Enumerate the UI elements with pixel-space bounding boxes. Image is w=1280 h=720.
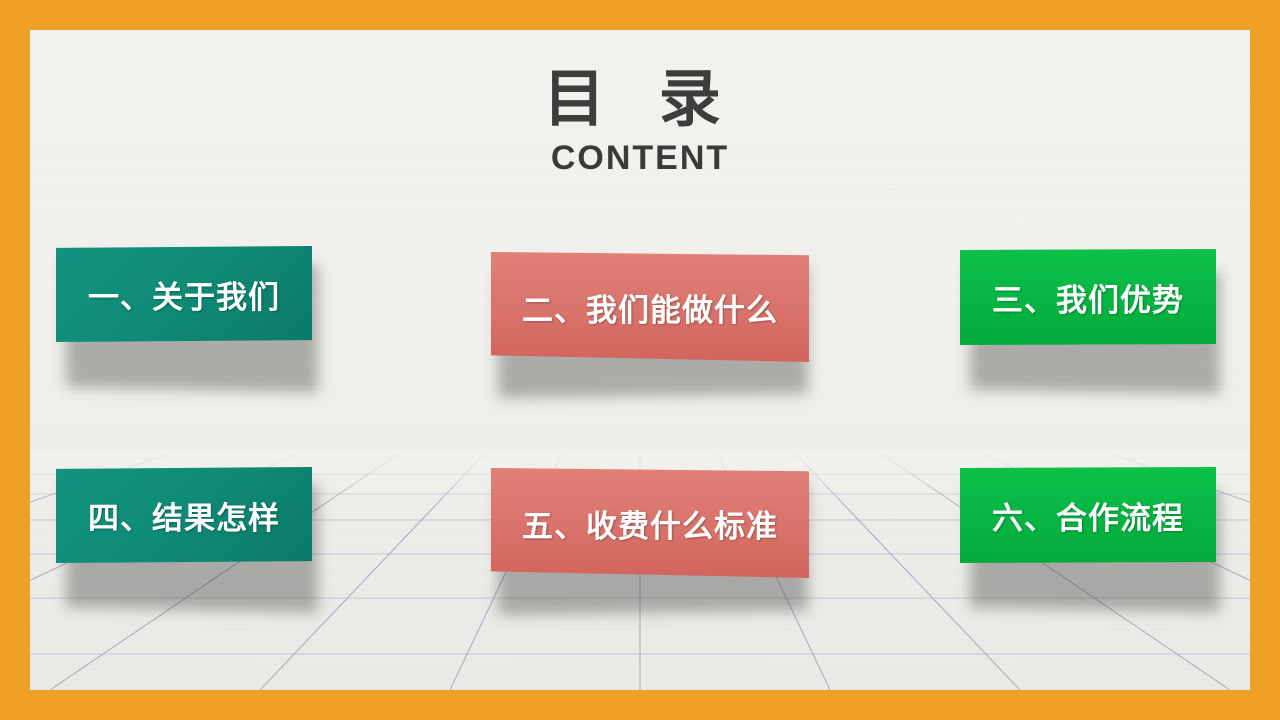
toc-item-1-label: 一、关于我们 (88, 272, 280, 317)
toc-item-1[interactable]: 一、关于我们 (56, 246, 312, 342)
toc-item-4-label: 四、结果怎样 (88, 493, 280, 538)
toc-item-4[interactable]: 四、结果怎样 (56, 467, 312, 563)
page-title: 目 录 (30, 66, 1250, 131)
page-subtitle: CONTENT (30, 139, 1250, 178)
slide-content-area: 目 录 CONTENT 一、关于我们 二、我们能做什么 三、我们优势 四、结果怎… (30, 30, 1250, 690)
slide-title-block: 目 录 CONTENT (30, 66, 1250, 178)
toc-item-6-label: 六、合作流程 (992, 493, 1184, 538)
toc-item-2[interactable]: 二、我们能做什么 (491, 252, 809, 362)
toc-item-3[interactable]: 三、我们优势 (960, 249, 1216, 345)
toc-item-5[interactable]: 五、收费什么标准 (491, 468, 809, 578)
toc-item-2-label: 二、我们能做什么 (522, 285, 778, 330)
toc-item-6[interactable]: 六、合作流程 (960, 467, 1216, 563)
toc-item-3-label: 三、我们优势 (992, 275, 1184, 320)
toc-item-5-label: 五、收费什么标准 (522, 501, 778, 546)
presentation-slide: 目 录 CONTENT 一、关于我们 二、我们能做什么 三、我们优势 四、结果怎… (0, 0, 1280, 720)
